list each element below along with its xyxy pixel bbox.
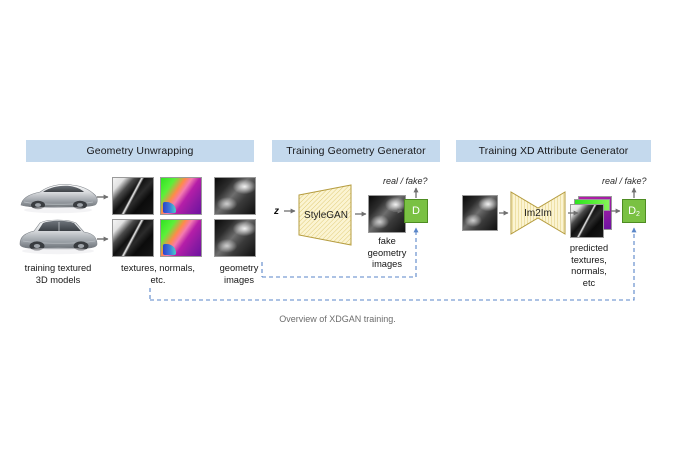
panel-title-text: Training XD Attribute Generator: [479, 145, 629, 157]
geometry-images-label: geometry images: [208, 263, 270, 286]
input-geometry-image-thumbnail: [462, 195, 498, 231]
figure-caption: Overview of XDGAN training.: [0, 314, 675, 324]
geometry-image-thumbnail: [214, 177, 256, 215]
xdgan-overview-figure: Geometry Unwrapping Training Geometry Ge…: [0, 0, 675, 450]
pickup-car-3d-model: [14, 214, 102, 258]
panel-header-training-geometry-generator: Training Geometry Generator: [272, 140, 440, 162]
fake-geometry-image-thumbnail: [368, 195, 406, 233]
im2im-label: Im2Im: [524, 208, 552, 219]
normal-map-thumbnail: [160, 219, 202, 257]
discriminator-d-label: D: [412, 205, 420, 217]
panel-title-text: Training Geometry Generator: [286, 145, 425, 157]
panel-header-training-xd-attribute-generator: Training XD Attribute Generator: [456, 140, 651, 162]
latent-vector-label: z: [274, 206, 279, 217]
real-fake-decision-label-xd: real / fake?: [602, 176, 647, 186]
predicted-attributes-label: predicted textures, normals, etc: [558, 243, 620, 289]
fake-geometry-images-label: fake geometry images: [352, 236, 422, 271]
normal-map-thumbnail: [160, 177, 202, 215]
panel-header-geometry-unwrapping: Geometry Unwrapping: [26, 140, 254, 162]
texture-thumbnail: [112, 219, 154, 257]
texture-thumbnail: [112, 177, 154, 215]
textures-normals-label: textures, normals, etc.: [108, 263, 208, 286]
predicted-texture-thumbnail: [570, 204, 604, 238]
discriminator-d2-letter: D: [628, 205, 636, 217]
discriminator-d2-subscript: 2: [636, 211, 640, 218]
discriminator-d2-box: D2: [622, 199, 646, 223]
discriminator-d-box: D: [404, 199, 428, 223]
panel-title-text: Geometry Unwrapping: [87, 145, 194, 157]
real-fake-decision-label-geometry: real / fake?: [383, 176, 428, 186]
sports-car-3d-model: [16, 174, 100, 216]
im2im-translator-block: Im2Im: [509, 190, 567, 236]
training-models-label: training textured 3D models: [8, 263, 108, 286]
stylegan-generator-block: StyleGAN: [296, 184, 354, 246]
discriminator-d2-label: D2: [628, 205, 640, 218]
geometry-image-thumbnail: [214, 219, 256, 257]
stylegan-label: StyleGAN: [304, 210, 348, 221]
